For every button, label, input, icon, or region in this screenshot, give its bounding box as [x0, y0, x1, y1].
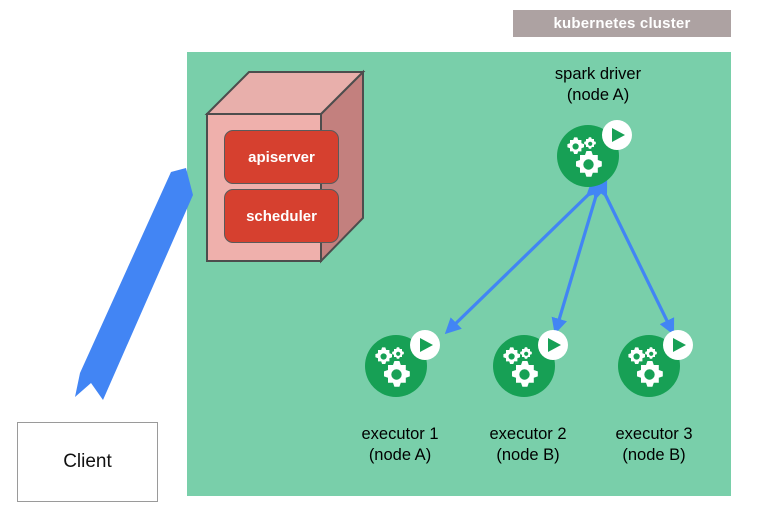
spark-submit-label: spark-submit: [79, 170, 134, 255]
apiserver-component[interactable]: apiserver: [224, 130, 339, 184]
executor-3-name: executor 3: [584, 424, 724, 445]
executor-2-node: (node B): [458, 445, 598, 466]
spark-submit-arrow-shape: [75, 168, 193, 400]
executor-3-node: (node B): [584, 445, 724, 466]
executor-1-node: (node A): [330, 445, 470, 466]
executor-2-caption: executor 2 (node B): [458, 424, 598, 466]
spark-driver-caption: spark driver (node A): [518, 64, 678, 106]
spark-driver-icon[interactable]: [552, 118, 636, 190]
executor-2-icon[interactable]: [488, 328, 572, 400]
spark-driver-node: (node A): [518, 85, 678, 106]
executor-1-name: executor 1: [330, 424, 470, 445]
scheduler-component[interactable]: scheduler: [224, 189, 339, 243]
executor-1-caption: executor 1 (node A): [330, 424, 470, 466]
executor-3-icon[interactable]: [613, 328, 697, 400]
executor-2-name: executor 2: [458, 424, 598, 445]
kubernetes-cluster-label: kubernetes cluster: [513, 10, 731, 37]
executor-3-caption: executor 3 (node B): [584, 424, 724, 466]
executor-1-icon[interactable]: [360, 328, 444, 400]
client-box[interactable]: Client: [17, 422, 158, 502]
diagram-canvas: kubernetes cluster apiserver scheduler s…: [0, 0, 761, 516]
spark-driver-name: spark driver: [518, 64, 678, 85]
